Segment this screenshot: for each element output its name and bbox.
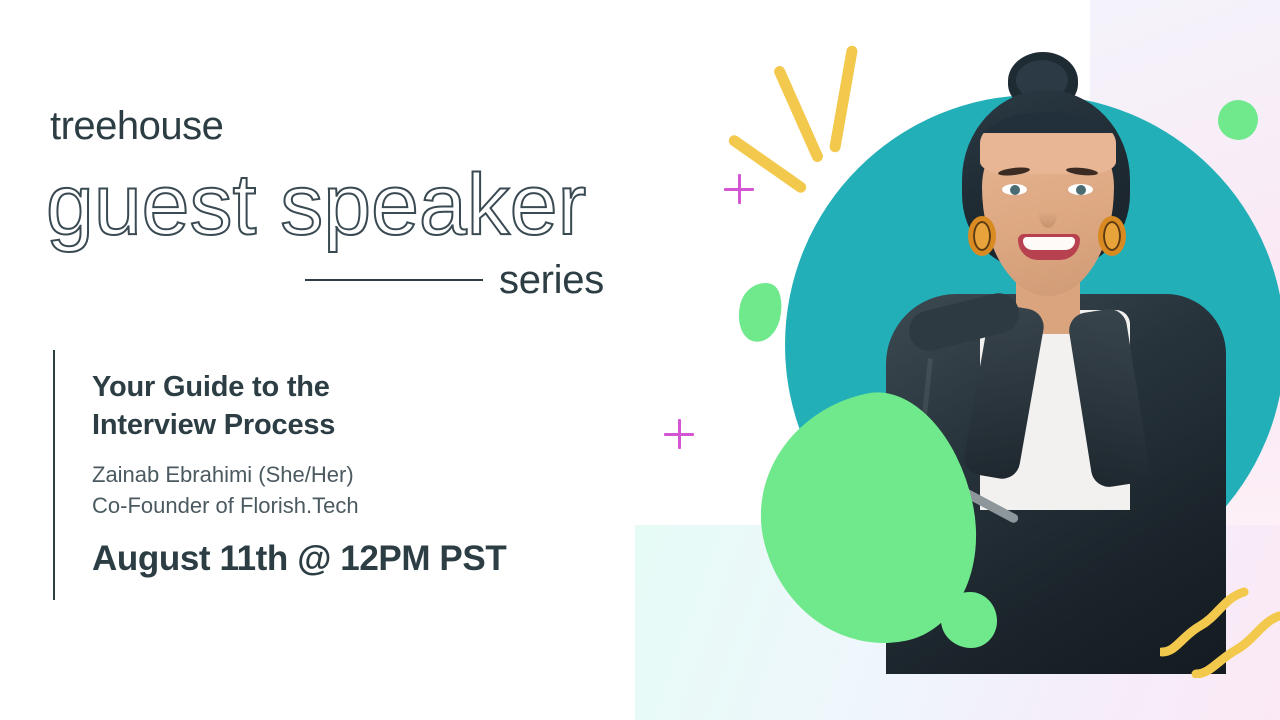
series-label: series bbox=[499, 260, 604, 300]
accent-vertical-rule bbox=[53, 350, 55, 600]
nose bbox=[1039, 200, 1057, 228]
speaker-role: Co-Founder of Florish.Tech bbox=[92, 490, 632, 521]
green-blob-small bbox=[732, 278, 787, 346]
leopard-hoop-earring-right bbox=[1098, 216, 1126, 256]
headline-outline: guest speaker bbox=[46, 160, 586, 250]
text-column: treehouse guest speaker series Your Guid… bbox=[0, 0, 660, 720]
mouth bbox=[1018, 234, 1080, 260]
talk-title: Your Guide to the Interview Process bbox=[92, 368, 632, 445]
eye-left bbox=[1002, 184, 1027, 195]
speaker-info: Zainab Ebrahimi (She/Her) Co-Founder of … bbox=[92, 459, 632, 521]
yellow-wave-svg bbox=[1160, 578, 1280, 678]
event-details: Your Guide to the Interview Process Zain… bbox=[92, 368, 632, 576]
hairline bbox=[980, 112, 1116, 174]
talk-title-line-1: Your Guide to the bbox=[92, 368, 632, 406]
green-dot-bottom-right bbox=[941, 592, 997, 648]
speaker-name: Zainab Ebrahimi (She/Her) bbox=[92, 459, 632, 490]
brand-wordmark: treehouse bbox=[50, 106, 223, 146]
yellow-wave-icon bbox=[1160, 578, 1280, 678]
plus-mark-icon bbox=[664, 419, 694, 449]
talk-title-line-2: Interview Process bbox=[92, 406, 632, 444]
series-row: series bbox=[305, 255, 625, 305]
event-datetime: August 11th @ 12PM PST bbox=[92, 541, 632, 576]
poster-canvas: treehouse guest speaker series Your Guid… bbox=[0, 0, 1280, 720]
teeth bbox=[1023, 237, 1075, 250]
plus-mark-icon bbox=[724, 174, 754, 204]
eye-right bbox=[1068, 184, 1093, 195]
leopard-hoop-earring-left bbox=[968, 216, 996, 256]
series-divider bbox=[305, 279, 483, 281]
yellow-sparkle-icon bbox=[772, 64, 824, 163]
